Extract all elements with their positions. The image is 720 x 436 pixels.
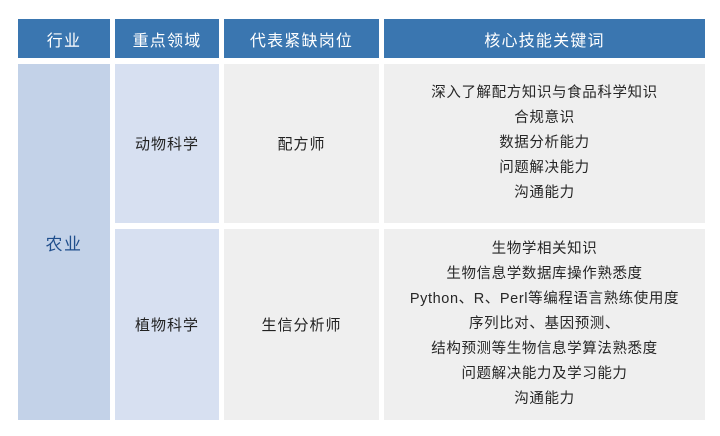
skill-line: 数据分析能力 (499, 131, 590, 156)
skill-line: 生物学相关知识 (492, 237, 598, 262)
column-header-industry: 行业 (18, 19, 110, 58)
cell-field: 动物科学 (115, 64, 219, 223)
cell-field: 植物科学 (115, 229, 219, 420)
table-row: 动物科学 配方师 深入了解配方知识与食品科学知识 合规意识 数据分析能力 问题解… (115, 64, 705, 223)
table-body: 农业 动物科学 配方师 深入了解配方知识与食品科学知识 合规意识 数据分析能力 … (18, 64, 705, 420)
skill-line: 合规意识 (514, 106, 574, 131)
skills-table: 行业 重点领域 代表紧缺岗位 核心技能关键词 农业 动物科学 配方师 深入了解配… (18, 19, 705, 420)
column-header-field: 重点领域 (115, 19, 219, 58)
cell-skills: 深入了解配方知识与食品科学知识 合规意识 数据分析能力 问题解决能力 沟通能力 (384, 64, 705, 223)
skill-line: 问题解决能力 (499, 156, 590, 181)
skill-line: 问题解决能力及学习能力 (461, 362, 627, 387)
cell-role: 生信分析师 (224, 229, 379, 420)
skill-line: Python、R、Perl等编程语言熟练使用度 (410, 287, 679, 312)
industry-merged-cell: 农业 (18, 64, 110, 420)
skill-line: 序列比对、基因预测、 (469, 312, 620, 337)
skill-line: 结构预测等生物信息学算法熟悉度 (431, 337, 658, 362)
column-header-skills: 核心技能关键词 (384, 19, 705, 58)
cell-skills: 生物学相关知识 生物信息学数据库操作熟悉度 Python、R、Perl等编程语言… (384, 229, 705, 420)
skill-line: 生物信息学数据库操作熟悉度 (446, 262, 642, 287)
skill-line: 沟通能力 (514, 387, 574, 412)
table-header-row: 行业 重点领域 代表紧缺岗位 核心技能关键词 (18, 19, 705, 58)
cell-role: 配方师 (224, 64, 379, 223)
table-row: 植物科学 生信分析师 生物学相关知识 生物信息学数据库操作熟悉度 Python、… (115, 229, 705, 420)
column-header-role: 代表紧缺岗位 (224, 19, 379, 58)
table-rows: 动物科学 配方师 深入了解配方知识与食品科学知识 合规意识 数据分析能力 问题解… (115, 64, 705, 420)
skill-line: 深入了解配方知识与食品科学知识 (431, 81, 658, 106)
skill-line: 沟通能力 (514, 181, 574, 206)
page-canvas: 行业 重点领域 代表紧缺岗位 核心技能关键词 农业 动物科学 配方师 深入了解配… (0, 0, 720, 436)
